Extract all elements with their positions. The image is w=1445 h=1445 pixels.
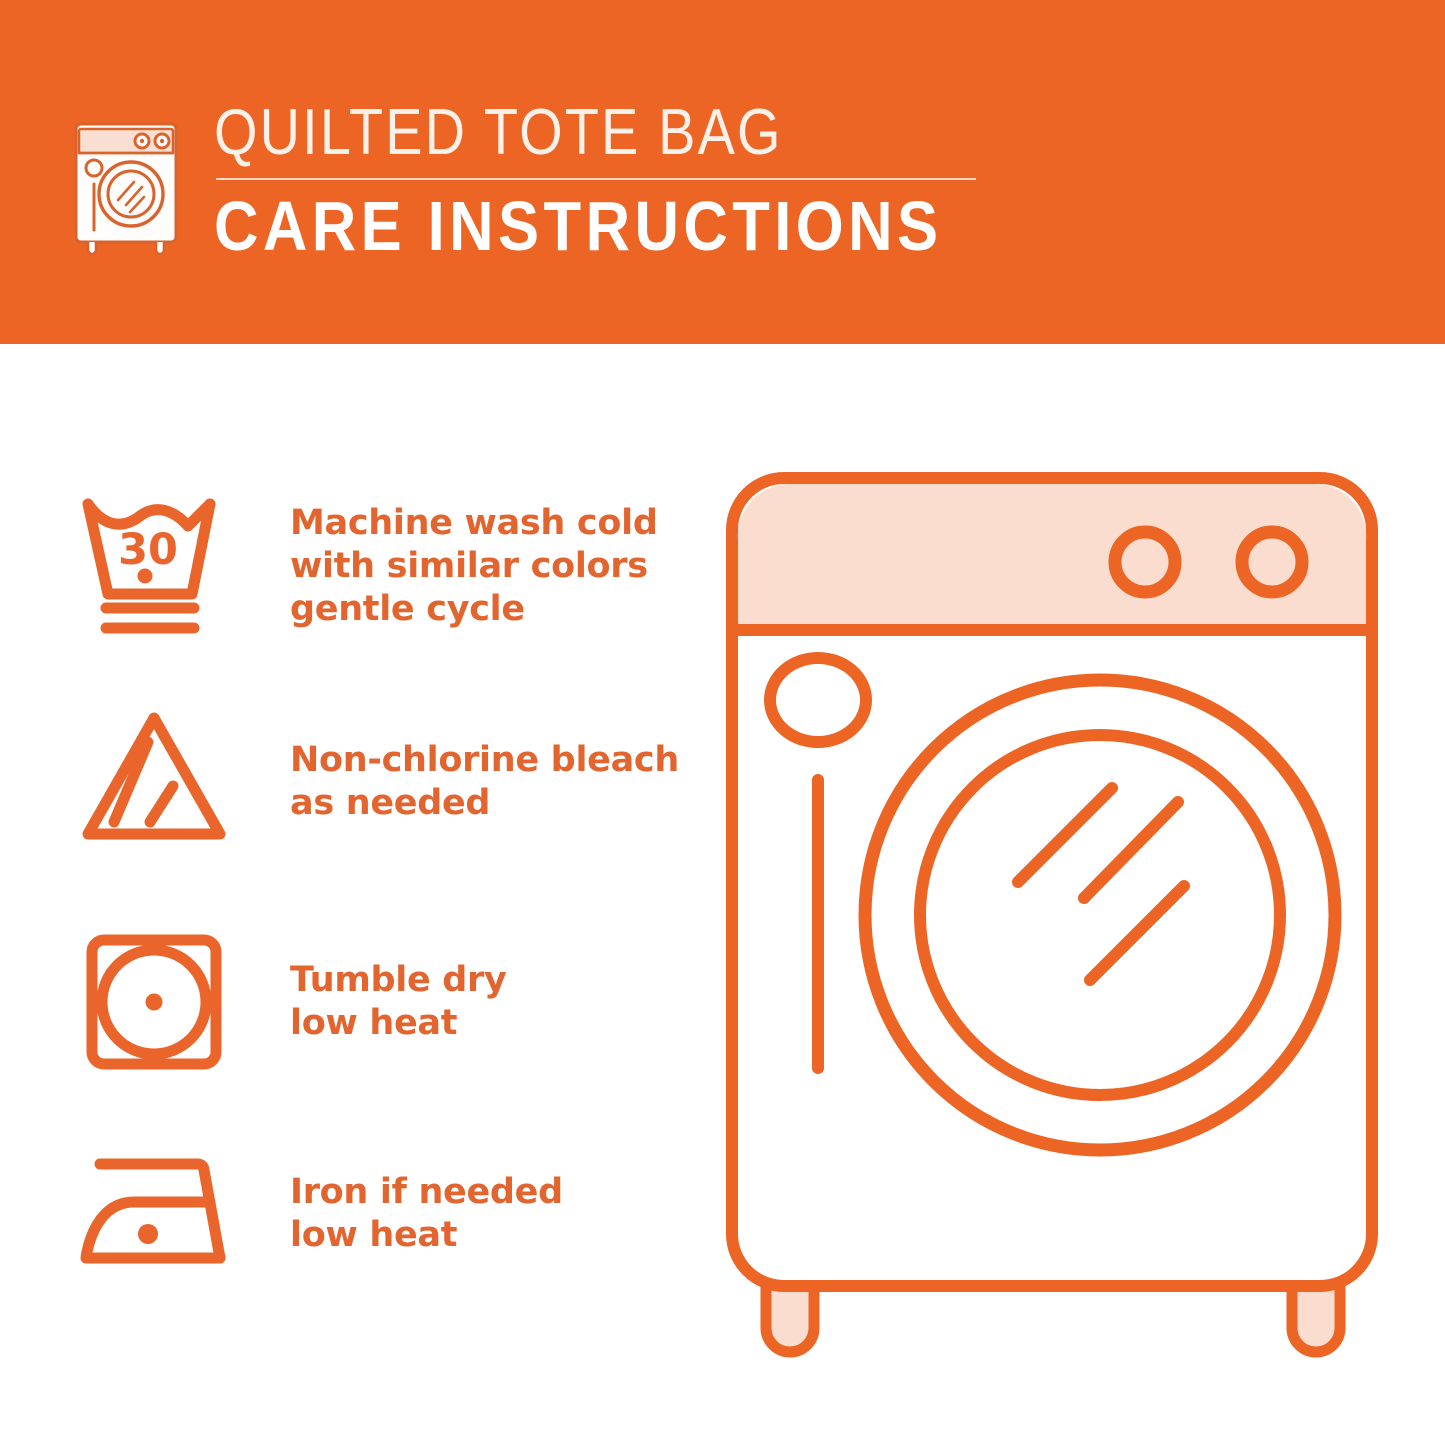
header-banner: QUILTED TOTE BAG CARE INSTRUCTIONS bbox=[0, 0, 1445, 344]
machine-wash-30-gentle-icon: 30 bbox=[70, 486, 238, 646]
iron-low-heat-icon bbox=[70, 1134, 238, 1294]
care-row-label: Iron if needed low heat bbox=[290, 1171, 563, 1257]
knob-right[interactable] bbox=[1242, 532, 1302, 592]
tumble-dry-low-heat-icon bbox=[70, 922, 238, 1082]
title-divider bbox=[216, 178, 976, 180]
care-row-iron: Iron if needed low heat bbox=[70, 1134, 690, 1294]
care-instruction-list: 30 Machine wash cold with similar colors… bbox=[0, 344, 700, 1445]
page-title: QUILTED TOTE BAG bbox=[214, 98, 926, 166]
non-chlorine-bleach-triangle-icon bbox=[70, 702, 238, 862]
care-row-label: Machine wash cold with similar colors ge… bbox=[290, 502, 658, 631]
page-subtitle: CARE INSTRUCTIONS bbox=[214, 190, 942, 262]
knob-left[interactable] bbox=[1115, 532, 1175, 592]
care-row-bleach: Non-chlorine bleach as needed bbox=[70, 702, 690, 862]
care-row-tumble-dry: Tumble dry low heat bbox=[70, 922, 690, 1082]
machine-svg bbox=[700, 450, 1400, 1370]
wash-temp-label: 30 bbox=[118, 525, 178, 575]
care-row-label: Tumble dry low heat bbox=[290, 959, 507, 1045]
header-title-block: QUILTED TOTE BAG CARE INSTRUCTIONS bbox=[214, 98, 1042, 262]
washing-machine-icon bbox=[68, 104, 186, 256]
care-row-machine-wash: 30 Machine wash cold with similar colors… bbox=[70, 486, 690, 646]
care-row-label: Non-chlorine bleach as needed bbox=[290, 739, 679, 825]
washing-machine-illustration bbox=[700, 450, 1400, 1370]
header-content: QUILTED TOTE BAG CARE INSTRUCTIONS bbox=[68, 98, 1042, 262]
